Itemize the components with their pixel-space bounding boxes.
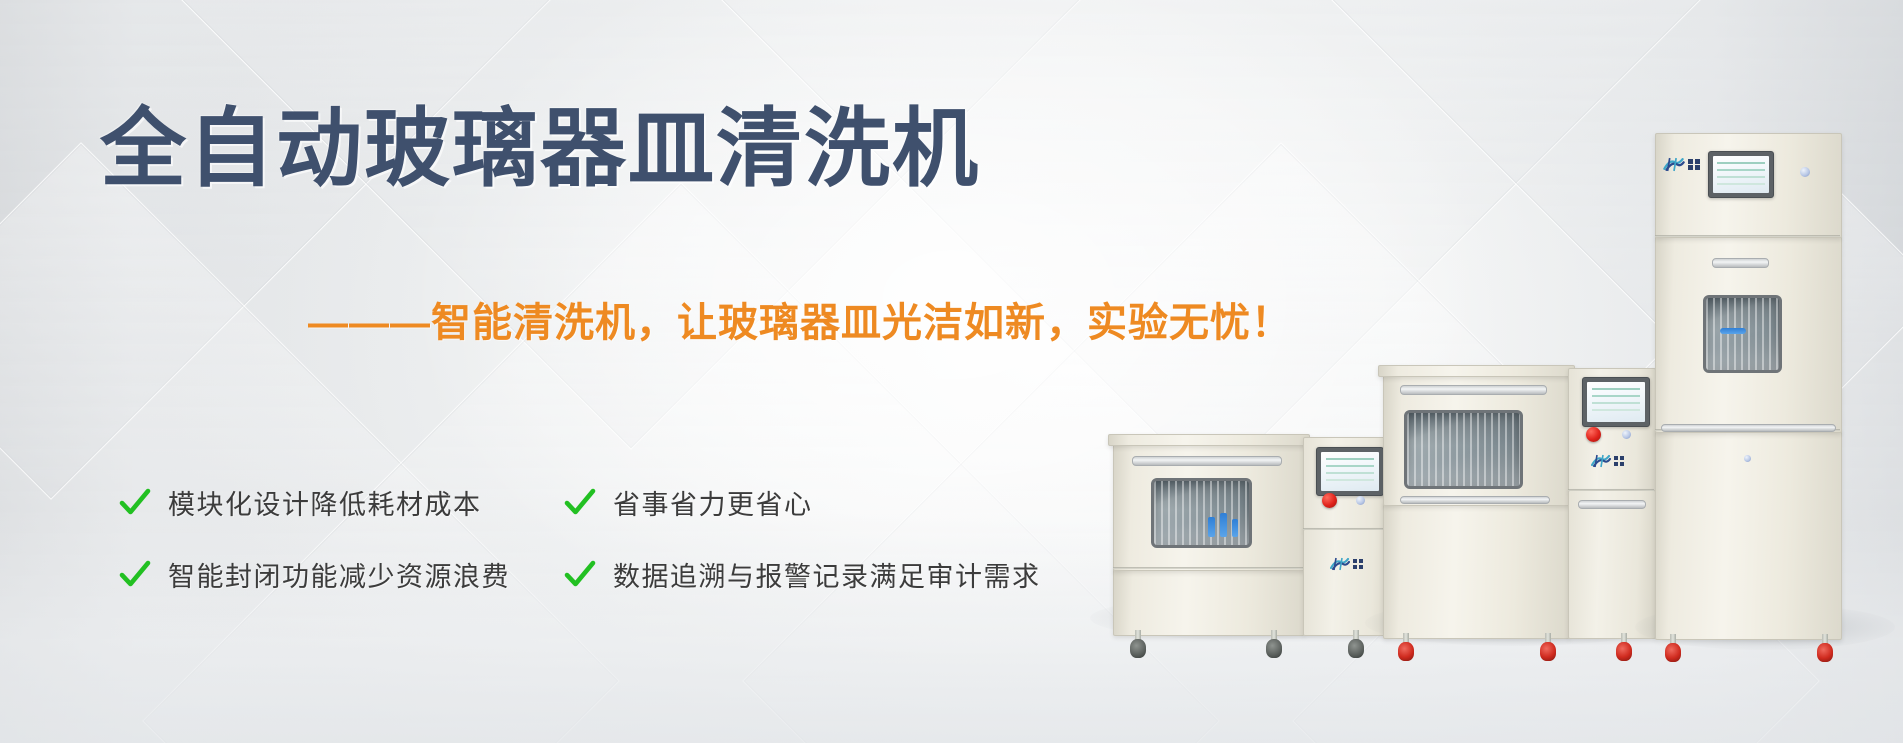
machine2-caster (1616, 633, 1632, 661)
machine2-lcd-display (1587, 382, 1645, 422)
glassware-load (1706, 298, 1779, 370)
machine2-door-handle (1400, 385, 1547, 395)
brand-h-icon (1591, 454, 1611, 468)
machine3-touchscreen[interactable] (1708, 151, 1774, 198)
machine1-lcd-display (1321, 452, 1379, 491)
blue-pipette-tip (1220, 513, 1227, 537)
machine1-viewing-window (1151, 478, 1252, 548)
product-image-group (0, 0, 1903, 743)
machine3-caster (1665, 634, 1681, 662)
machine2-lower-handle (1400, 496, 1550, 504)
machine2-side-cabinet (1568, 490, 1656, 639)
machine1-caster (1130, 630, 1146, 658)
machine2-side-handle (1578, 500, 1646, 509)
brand-text-blocks (1688, 159, 1700, 171)
machine3-door-handle (1712, 258, 1769, 268)
machine2-caster (1398, 633, 1414, 661)
machine3-lcd-display (1713, 156, 1769, 193)
blue-rack-accent (1720, 328, 1746, 334)
glassware-load (1407, 413, 1520, 486)
brand-h-icon (1330, 557, 1350, 571)
machine1-top-cap (1108, 434, 1310, 446)
machine3-brand-h-logo (1663, 157, 1700, 172)
machine3-lock-indicator (1744, 455, 1751, 462)
machine3-power-button[interactable] (1800, 167, 1810, 177)
brand-h-icon (1663, 157, 1685, 172)
machine2-panel-seam (1568, 489, 1654, 491)
machine2-touchscreen[interactable] (1582, 377, 1650, 427)
machine1-caster (1266, 630, 1282, 658)
machine1-brand-h-logo (1330, 557, 1363, 571)
brand-text-blocks (1614, 456, 1624, 466)
machine1-touchscreen[interactable] (1316, 447, 1384, 496)
machine1-lower-door (1113, 568, 1305, 636)
machine2-power-button[interactable] (1622, 430, 1631, 439)
machine2-top-cap (1378, 365, 1575, 377)
machine3-viewing-window (1703, 295, 1782, 373)
machine1-caster (1348, 630, 1364, 658)
machine1-emergency-stop-button[interactable] (1322, 493, 1337, 508)
machine3-lower-handle (1661, 424, 1836, 432)
brand-text-blocks (1353, 559, 1363, 569)
machine3-caster (1817, 634, 1833, 662)
machine1-panel-seam (1113, 567, 1303, 569)
machine2-brand-h-logo (1591, 454, 1624, 468)
machine2-viewing-window (1404, 410, 1523, 489)
machine1-power-button[interactable] (1356, 496, 1365, 505)
machine1-door-handle (1132, 456, 1282, 466)
machine2-lower-door (1383, 503, 1570, 639)
blue-pipette-tip (1232, 519, 1238, 537)
machine2-caster (1540, 633, 1556, 661)
blue-pipette-tip (1208, 517, 1215, 537)
machine3-panel-seam (1655, 235, 1840, 237)
machine2-emergency-stop-button[interactable] (1586, 427, 1601, 442)
product-banner: 全自动玻璃器皿清洗机 ———智能清洗机，让玻璃器皿光洁如新，实验无忧！ 模块化设… (0, 0, 1903, 743)
machine1-panel-seam (1303, 528, 1390, 530)
